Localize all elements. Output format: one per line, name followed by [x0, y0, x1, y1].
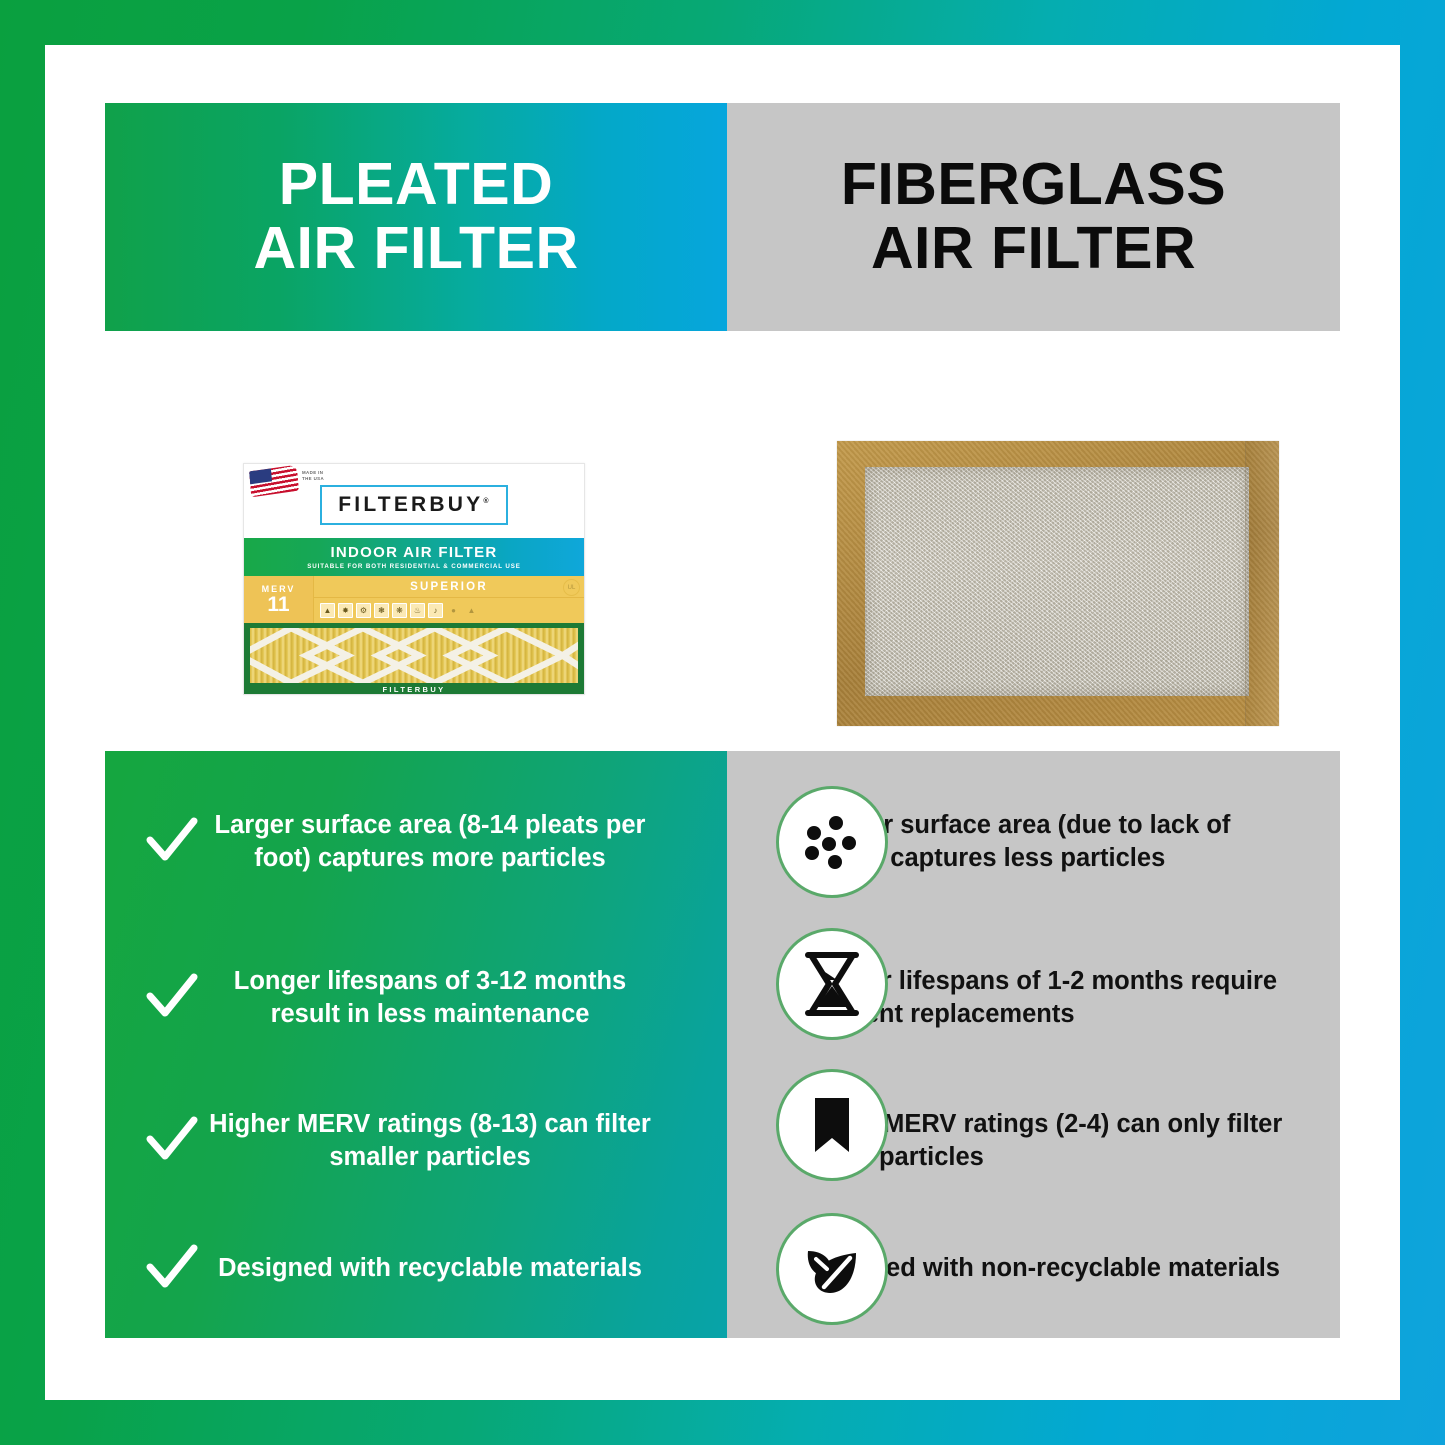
- feature-left-text: Higher MERV ratings (8-13) can filter sm…: [207, 1108, 653, 1174]
- fiberglass-image-cell: [727, 331, 1340, 751]
- fiberglass-filter-photo: [837, 441, 1279, 726]
- feature-left-cell: Higher MERV ratings (8-13) can filter sm…: [105, 1108, 727, 1174]
- pleated-image-cell: MADE INTHE USA FILTERBUY® INDOOR AIR FIL…: [105, 331, 727, 751]
- feature-left-cell: Designed with recyclable materials: [105, 1240, 727, 1298]
- headers-row: PLEATED AIR FILTER FIBERGLASS AIR FILTER: [105, 103, 1340, 331]
- box-capability-icons: ▲ ✸ ⚙ ❃ ❋ ♨ ♪ ● ▲: [314, 598, 584, 623]
- checkmark-icon: [143, 1112, 201, 1170]
- feature-left-cell: Larger surface area (8-14 pleats per foo…: [105, 809, 727, 875]
- leaf-icon: [776, 1213, 888, 1325]
- feature-row: Longer lifespans of 3-12 months result i…: [105, 933, 1340, 1063]
- box-tier-label: SUPERIOR: [314, 576, 584, 598]
- feature-left-cell: Longer lifespans of 3-12 months result i…: [105, 965, 727, 1031]
- feature-left-text: Longer lifespans of 3-12 months result i…: [207, 965, 653, 1031]
- header-fiberglass-title: FIBERGLASS AIR FILTER: [841, 153, 1226, 280]
- pleated-media: [250, 628, 578, 683]
- header-pleated-line2: AIR FILTER: [253, 217, 578, 281]
- merv-badge: MERV 11: [244, 576, 314, 623]
- dust-icon: ▲: [320, 603, 335, 618]
- pollen-icon: ❃: [374, 603, 389, 618]
- box-merv-section: MERV 11 SUPERIOR ▲ ✸ ⚙ ❃ ❋ ♨: [244, 576, 584, 623]
- box-band-title: INDOOR AIR FILTER: [330, 544, 497, 561]
- fiberglass-frame-edge: [1245, 441, 1279, 726]
- hourglass-icon: [776, 928, 888, 1040]
- header-pleated-title: PLEATED AIR FILTER: [253, 153, 578, 280]
- feature-row: Designed with recyclable materials Desig…: [105, 1217, 1340, 1321]
- insect-icon: ✸: [338, 603, 353, 618]
- filterbuy-logo-text: FILTERBUY®: [338, 493, 491, 517]
- box-filter-window: FILTERBUY: [244, 623, 584, 695]
- comparison-card: PLEATED AIR FILTER FIBERGLASS AIR FILTER…: [105, 103, 1340, 1338]
- feature-row: Larger surface area (8-14 pleats per foo…: [105, 767, 1340, 917]
- filterbuy-logo: FILTERBUY®: [320, 485, 507, 525]
- header-pleated: PLEATED AIR FILTER: [105, 103, 727, 331]
- feature-row: Higher MERV ratings (8-13) can filter sm…: [105, 1077, 1340, 1205]
- features-panel: Larger surface area (8-14 pleats per foo…: [105, 751, 1340, 1338]
- box-band-subtitle: SUITABLE FOR BOTH RESIDENTIAL & COMMERCI…: [307, 563, 521, 570]
- box-footer-brand: FILTERBUY: [244, 685, 584, 694]
- mold-icon: ❋: [392, 603, 407, 618]
- voc-icon: ▲: [464, 603, 479, 618]
- checkmark-icon: [143, 969, 201, 1027]
- box-tier-section: SUPERIOR ▲ ✸ ⚙ ❃ ❋ ♨ ♪ ● ▲: [314, 576, 584, 623]
- infographic-page: PLEATED AIR FILTER FIBERGLASS AIR FILTER…: [0, 0, 1445, 1445]
- header-fiberglass: FIBERGLASS AIR FILTER: [727, 103, 1340, 331]
- fiberglass-media: [865, 467, 1249, 696]
- box-top-section: MADE INTHE USA FILTERBUY®: [244, 464, 584, 538]
- ribbon-icon: [776, 1069, 888, 1181]
- checkmark-icon: [143, 813, 201, 871]
- odor-icon: ●: [446, 603, 461, 618]
- header-pleated-line1: PLEATED: [253, 153, 578, 217]
- pet-dander-icon: ♨: [410, 603, 425, 618]
- checkmark-icon: [143, 1240, 201, 1298]
- feature-left-text: Designed with recyclable materials: [207, 1252, 653, 1285]
- made-in-usa-label: MADE INTHE USA: [302, 470, 324, 481]
- header-fiberglass-line1: FIBERGLASS: [841, 153, 1226, 217]
- smoke-icon: ♪: [428, 603, 443, 618]
- merv-value: 11: [267, 594, 289, 615]
- diamond-support-grid: [250, 628, 578, 683]
- product-images-row: MADE INTHE USA FILTERBUY® INDOOR AIR FIL…: [105, 331, 1340, 751]
- feature-left-text: Larger surface area (8-14 pleats per foo…: [207, 809, 653, 875]
- box-indoor-band: INDOOR AIR FILTER SUITABLE FOR BOTH RESI…: [244, 538, 584, 576]
- bacteria-icon: ⚙: [356, 603, 371, 618]
- ul-cert-icon: UL: [563, 579, 580, 596]
- header-fiberglass-line2: AIR FILTER: [841, 217, 1226, 281]
- particles-icon: [776, 786, 888, 898]
- filterbuy-product-box: MADE INTHE USA FILTERBUY® INDOOR AIR FIL…: [243, 463, 585, 695]
- usa-flag-icon: [249, 465, 299, 498]
